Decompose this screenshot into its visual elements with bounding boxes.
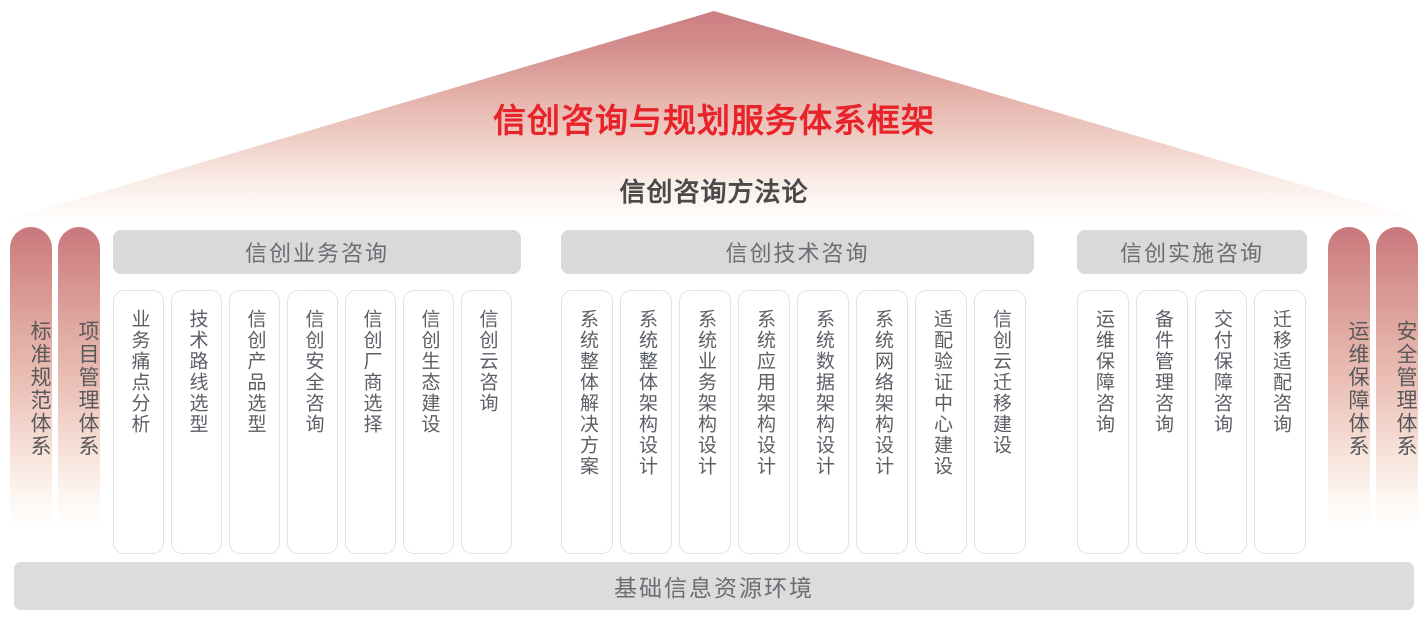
pillar-standard-spec-system: 标准规范体系 — [10, 227, 52, 527]
item-card[interactable]: 信创云迁移建设 — [974, 290, 1026, 554]
item-card[interactable]: 信创安全咨询 — [287, 290, 338, 554]
item-card[interactable]: 迁移适配咨询 — [1254, 290, 1306, 554]
item-card[interactable]: 业务痛点分析 — [113, 290, 164, 554]
group-items-implementation: 运维保障咨询 备件管理咨询 交付保障咨询 迁移适配咨询 — [1077, 290, 1306, 554]
group-header-technology: 信创技术咨询 — [561, 230, 1034, 274]
group-business-consulting: 信创业务咨询 业务痛点分析 技术路线选型 信创产品选型 信创安全咨询 信创厂商选… — [113, 230, 521, 274]
item-card[interactable]: 适配验证中心建设 — [915, 290, 967, 554]
pillar-label: 运维保障体系 — [1328, 299, 1370, 479]
pillar-label: 项目管理体系 — [58, 299, 100, 479]
pillar-ops-support-system: 运维保障体系 — [1328, 227, 1370, 527]
item-card[interactable]: 备件管理咨询 — [1136, 290, 1188, 554]
item-label: 信创安全咨询 — [301, 309, 325, 435]
pillar-label: 标准规范体系 — [10, 299, 52, 479]
item-label: 信创云迁移建设 — [988, 309, 1012, 456]
group-header-implementation: 信创实施咨询 — [1077, 230, 1307, 274]
group-technology-consulting: 信创技术咨询 系统整体解决方案 系统整体架构设计 系统业务架构设计 系统应用架构… — [561, 230, 1034, 274]
item-label: 系统整体解决方案 — [575, 309, 599, 477]
foundation-bar: 基础信息资源环境 — [14, 562, 1414, 610]
item-label: 信创生态建设 — [417, 309, 441, 435]
item-card[interactable]: 系统业务架构设计 — [679, 290, 731, 554]
item-label: 系统业务架构设计 — [693, 309, 717, 477]
item-label: 系统整体架构设计 — [634, 309, 658, 477]
group-items-business: 业务痛点分析 技术路线选型 信创产品选型 信创安全咨询 信创厂商选择 信创生态建… — [113, 290, 512, 554]
item-card[interactable]: 系统应用架构设计 — [738, 290, 790, 554]
item-label: 信创厂商选择 — [359, 309, 383, 435]
roof-shape — [0, 0, 1428, 222]
roof-triangle: 信创咨询与规划服务体系框架 信创咨询方法论 — [0, 0, 1428, 222]
item-label: 信创云咨询 — [475, 309, 499, 414]
pillar-security-management-system: 安全管理体系 — [1376, 227, 1418, 527]
item-label: 业务痛点分析 — [127, 309, 151, 435]
group-implementation-consulting: 信创实施咨询 运维保障咨询 备件管理咨询 交付保障咨询 迁移适配咨询 — [1077, 230, 1307, 274]
item-label: 信创产品选型 — [243, 309, 267, 435]
pillar-label: 安全管理体系 — [1376, 299, 1418, 479]
item-card[interactable]: 系统整体解决方案 — [561, 290, 613, 554]
pillar-project-management-system: 项目管理体系 — [58, 227, 100, 527]
item-card[interactable]: 信创厂商选择 — [345, 290, 396, 554]
item-label: 迁移适配咨询 — [1268, 309, 1292, 435]
item-label: 系统网络架构设计 — [870, 309, 894, 477]
item-card[interactable]: 信创产品选型 — [229, 290, 280, 554]
item-card[interactable]: 交付保障咨询 — [1195, 290, 1247, 554]
group-header-business: 信创业务咨询 — [113, 230, 521, 274]
item-card[interactable]: 系统数据架构设计 — [797, 290, 849, 554]
item-card[interactable]: 技术路线选型 — [171, 290, 222, 554]
item-label: 系统应用架构设计 — [752, 309, 776, 477]
diagram-canvas: 信创咨询与规划服务体系框架 信创咨询方法论 标准规范体系 项目管理体系 运维保障… — [0, 0, 1428, 627]
item-card[interactable]: 信创云咨询 — [461, 290, 512, 554]
item-label: 备件管理咨询 — [1150, 309, 1174, 435]
group-items-technology: 系统整体解决方案 系统整体架构设计 系统业务架构设计 系统应用架构设计 系统数据… — [561, 290, 1026, 554]
item-card[interactable]: 系统整体架构设计 — [620, 290, 672, 554]
item-label: 交付保障咨询 — [1209, 309, 1233, 435]
item-label: 系统数据架构设计 — [811, 309, 835, 477]
item-card[interactable]: 信创生态建设 — [403, 290, 454, 554]
item-card[interactable]: 运维保障咨询 — [1077, 290, 1129, 554]
item-label: 技术路线选型 — [185, 309, 209, 435]
item-card[interactable]: 系统网络架构设计 — [856, 290, 908, 554]
item-label: 适配验证中心建设 — [929, 309, 953, 477]
item-label: 运维保障咨询 — [1091, 309, 1115, 435]
